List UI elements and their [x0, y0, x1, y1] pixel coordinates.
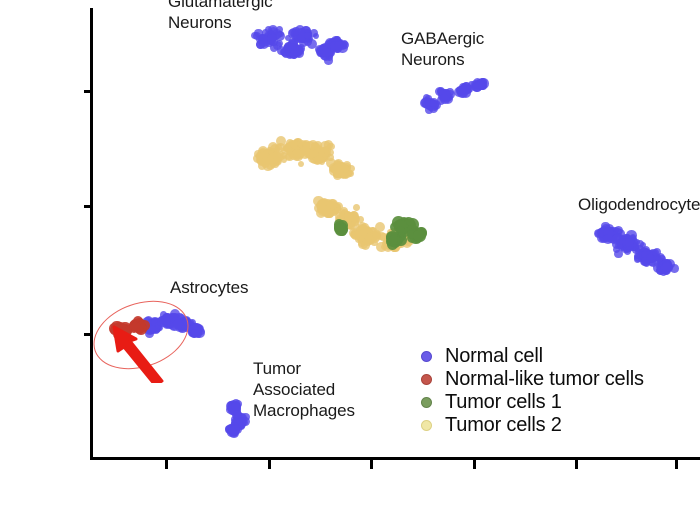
- scatter-point: [404, 226, 411, 233]
- scatter-point: [604, 233, 612, 241]
- scatter-point: [256, 152, 265, 161]
- scatter-point: [282, 50, 291, 59]
- scatter-point: [225, 425, 234, 434]
- scatter-point: [292, 48, 301, 57]
- scatter-point: [337, 165, 346, 174]
- scatter-point: [416, 227, 427, 238]
- scatter-point: [441, 91, 451, 101]
- scatter-point: [406, 235, 414, 243]
- scatter-point: [296, 32, 306, 42]
- scatter-point: [457, 88, 467, 98]
- scatter-point: [298, 140, 307, 149]
- scatter-point: [644, 254, 653, 263]
- scatter-point: [232, 425, 242, 435]
- legend-item-label: Normal-like tumor cells: [445, 368, 644, 391]
- scatter-point: [317, 199, 327, 209]
- scatter-point: [285, 46, 291, 52]
- scatter-point: [335, 168, 343, 176]
- scatter-point: [318, 152, 325, 159]
- scatter-point: [233, 426, 240, 433]
- scatter-point: [652, 249, 660, 257]
- scatter-point: [270, 152, 278, 160]
- scatter-point: [301, 26, 311, 36]
- scatter-point: [348, 213, 357, 222]
- scatter-point: [320, 141, 330, 151]
- scatter-point: [362, 229, 368, 235]
- scatter-point: [385, 240, 395, 250]
- scatter-point: [325, 52, 332, 59]
- scatter-point: [241, 417, 250, 426]
- scatter-point: [459, 85, 465, 91]
- scatter-point: [313, 151, 320, 158]
- scatter-point: [382, 239, 391, 248]
- scatter-point: [336, 224, 343, 231]
- scatter-point: [342, 165, 348, 171]
- scatter-point: [405, 237, 411, 243]
- scatter-point: [227, 428, 235, 436]
- scatter-point: [323, 48, 330, 55]
- scatter-point: [293, 149, 300, 156]
- scatter-point: [331, 36, 340, 45]
- scatter-point: [337, 225, 345, 233]
- scatter-point: [368, 238, 374, 244]
- scatter-point: [440, 89, 447, 96]
- legend-item-normal-like-tumor-cells[interactable]: Normal-like tumor cells: [418, 368, 693, 391]
- scatter-point: [358, 222, 367, 231]
- x-axis-tick: [370, 460, 373, 469]
- scatter-point: [292, 152, 298, 158]
- scatter-point: [385, 232, 395, 242]
- scatter-point: [233, 410, 242, 419]
- scatter-point: [664, 264, 672, 272]
- scatter-point: [391, 239, 400, 248]
- scatter-point: [265, 153, 274, 162]
- y-axis-tick: [84, 205, 93, 208]
- scatter-point: [349, 211, 359, 221]
- scatter-point: [308, 153, 315, 160]
- scatter-point: [628, 235, 637, 244]
- scatter-point: [290, 46, 296, 52]
- scatter-point: [309, 149, 319, 159]
- scatter-point: [259, 39, 269, 49]
- scatter-point: [268, 150, 275, 157]
- scatter-point: [389, 239, 396, 246]
- scatter-point: [290, 43, 300, 53]
- scatter-point: [610, 233, 616, 239]
- scatter-point: [463, 86, 472, 95]
- scatter-point: [332, 42, 342, 52]
- scatter-point: [390, 234, 401, 245]
- scatter-point: [343, 173, 349, 179]
- scatter-point: [341, 214, 348, 221]
- scatter-point: [232, 410, 242, 420]
- scatter-point: [261, 159, 270, 168]
- scatter-point: [394, 220, 402, 228]
- scatter-point: [194, 328, 204, 338]
- scatter-point: [336, 165, 343, 172]
- scatter-point: [662, 262, 670, 270]
- scatter-point: [606, 227, 615, 236]
- scatter-point: [336, 214, 346, 224]
- scatter-point: [399, 220, 407, 228]
- scatter-point: [280, 48, 289, 57]
- x-axis-tick: [268, 460, 271, 469]
- scatter-point: [412, 227, 419, 234]
- scatter-point: [630, 242, 638, 250]
- scatter-point: [402, 238, 412, 248]
- scatter-point: [304, 34, 313, 43]
- scatter-point: [334, 202, 343, 211]
- scatter-point: [464, 86, 471, 93]
- scatter-point: [412, 228, 420, 236]
- scatter-point: [330, 45, 337, 52]
- scatter-point: [290, 145, 297, 152]
- scatter-point: [226, 401, 236, 411]
- scatter-point: [456, 86, 464, 94]
- scatter-point: [412, 230, 419, 237]
- scatter-point: [462, 82, 471, 91]
- scatter-point: [403, 233, 412, 242]
- scatter-point: [259, 37, 269, 47]
- scatter-point: [233, 414, 241, 422]
- scatter-point: [323, 50, 330, 57]
- scatter-point: [313, 196, 323, 206]
- scatter-point: [653, 262, 663, 272]
- scatter-point: [277, 46, 286, 55]
- scatter-point: [337, 171, 344, 178]
- scatter-point: [649, 256, 656, 263]
- scatter-point: [335, 168, 344, 177]
- scatter-point: [414, 230, 426, 242]
- scatter-point: [658, 258, 667, 267]
- scatter-point: [343, 165, 351, 173]
- scatter-point: [407, 234, 416, 243]
- scatter-point: [390, 242, 400, 252]
- scatter-point: [656, 263, 663, 270]
- scatter-point: [625, 243, 632, 250]
- scatter-point: [646, 253, 655, 262]
- scatter-point: [349, 228, 359, 238]
- scatter-point: [285, 35, 291, 41]
- scatter-point: [327, 199, 337, 209]
- scatter-point: [291, 150, 298, 157]
- scatter-point: [461, 86, 467, 92]
- scatter-point: [347, 213, 356, 222]
- scatter-point: [389, 239, 397, 247]
- scatter-point: [301, 142, 310, 151]
- scatter-point: [642, 256, 650, 264]
- scatter-point: [191, 329, 199, 337]
- scatter-point: [385, 241, 392, 248]
- scatter-point: [354, 230, 362, 238]
- scatter-point: [660, 268, 666, 274]
- scatter-point: [614, 226, 623, 235]
- scatter-point: [389, 237, 397, 245]
- scatter-point: [608, 231, 618, 241]
- scatter-point: [665, 264, 673, 272]
- legend-item-normal-cell[interactable]: Normal cell: [418, 345, 693, 368]
- scatter-point: [301, 26, 311, 36]
- scatter-point: [264, 154, 271, 161]
- scatter-point: [383, 242, 393, 252]
- scatter-point: [289, 28, 298, 37]
- scatter-point: [330, 38, 338, 46]
- scatter-point: [336, 222, 344, 230]
- scatter-point: [191, 328, 199, 336]
- scatter-point: [268, 151, 276, 159]
- scatter-point: [259, 37, 266, 44]
- scatter-point: [290, 145, 298, 153]
- scatter-point: [272, 29, 282, 39]
- scatter-point: [296, 147, 305, 156]
- scatter-point: [267, 36, 276, 45]
- scatter-point: [369, 227, 378, 236]
- scatter-point: [425, 102, 434, 111]
- scatter-point: [422, 99, 432, 109]
- scatter-point: [620, 242, 630, 252]
- scatter-point: [319, 202, 326, 209]
- scatter-point: [410, 232, 418, 240]
- scatter-point: [476, 82, 485, 91]
- scatter-point: [291, 148, 301, 158]
- scatter-point: [336, 165, 345, 174]
- scatter-point: [338, 41, 347, 50]
- scatter-point: [410, 232, 416, 238]
- scatter-point: [604, 232, 611, 239]
- scatter-point: [621, 235, 631, 245]
- scatter-point: [408, 230, 417, 239]
- scatter-point: [325, 206, 335, 216]
- scatter-point: [235, 420, 242, 427]
- scatter-point: [657, 265, 666, 274]
- scatter-point: [352, 219, 359, 226]
- scatter-point: [309, 147, 318, 156]
- scatter-point: [320, 202, 326, 208]
- scatter-point: [334, 40, 344, 50]
- scatter-point: [314, 141, 323, 150]
- scatter-point: [397, 232, 406, 241]
- scatter-point: [408, 229, 415, 236]
- scatter-point: [267, 38, 274, 45]
- scatter-point: [661, 259, 671, 269]
- scatter-point: [632, 246, 640, 254]
- scatter-point: [335, 163, 343, 171]
- scatter-point: [314, 150, 320, 156]
- scatter-point: [642, 252, 650, 260]
- scatter-point: [328, 205, 337, 214]
- scatter-point: [355, 231, 362, 238]
- scatter-point: [339, 214, 346, 221]
- scatter-point: [445, 93, 453, 101]
- scatter-point: [346, 223, 353, 230]
- scatter-point: [326, 47, 332, 53]
- scatter-point: [323, 199, 332, 208]
- scatter-point: [290, 46, 298, 54]
- scatter-point: [652, 253, 660, 261]
- scatter-point: [392, 216, 405, 229]
- scatter-point: [408, 233, 416, 241]
- scatter-point: [290, 147, 300, 157]
- scatter-point: [605, 227, 614, 236]
- legend-item-tumor-cells-1[interactable]: Tumor cells 1: [418, 391, 693, 414]
- scatter-point: [334, 164, 343, 173]
- scatter-point: [307, 39, 317, 49]
- scatter-point: [304, 32, 311, 39]
- scatter-point: [400, 217, 408, 225]
- scatter-point: [291, 46, 298, 53]
- scatter-point: [340, 215, 350, 225]
- scatter-point: [657, 263, 666, 272]
- scatter-point: [269, 34, 276, 41]
- scatter-point: [267, 149, 276, 158]
- scatter-point: [322, 146, 330, 154]
- scatter-point: [304, 151, 311, 158]
- scatter-point: [409, 229, 415, 235]
- scatter-point: [640, 257, 650, 267]
- scatter-point: [658, 263, 667, 272]
- scatter-point: [296, 34, 304, 42]
- scatter-point: [345, 217, 353, 225]
- scatter-point: [658, 263, 667, 272]
- scatter-point: [389, 241, 397, 249]
- scatter-point: [366, 227, 373, 234]
- scatter-point: [640, 253, 650, 263]
- scatter-point: [319, 48, 326, 55]
- scatter-point: [333, 169, 342, 178]
- scatter-point: [275, 152, 283, 160]
- scatter-point: [660, 260, 670, 270]
- scatter-point: [647, 254, 655, 262]
- scatter-point: [390, 234, 397, 241]
- scatter-point: [664, 260, 672, 268]
- legend-item-tumor-cells-2[interactable]: Tumor cells 2: [418, 414, 693, 437]
- scatter-point: [314, 157, 321, 164]
- scatter-point: [337, 169, 344, 176]
- scatter-point: [232, 403, 238, 409]
- scatter-point: [340, 165, 349, 174]
- scatter-point: [237, 418, 245, 426]
- scatter-point: [236, 413, 246, 423]
- scatter-point: [626, 245, 632, 251]
- scatter-point: [375, 222, 385, 232]
- scatter-point: [392, 232, 400, 240]
- scatter-point: [628, 237, 638, 247]
- scatter-point: [289, 151, 298, 160]
- scatter-point: [459, 88, 469, 98]
- scatter-point: [461, 84, 468, 91]
- scatter-point: [658, 261, 665, 268]
- scatter-point: [392, 239, 402, 249]
- scatter-point: [662, 259, 671, 268]
- scatter-point: [461, 83, 467, 89]
- scatter-point: [316, 202, 322, 208]
- scatter-point: [292, 27, 300, 35]
- scatter-point: [660, 264, 668, 272]
- scatter-point: [627, 243, 634, 250]
- scatter-point: [300, 30, 306, 36]
- scatter-point: [264, 156, 271, 163]
- scatter-point: [228, 407, 237, 416]
- scatter-point: [612, 234, 622, 244]
- scatter-point: [344, 212, 353, 221]
- scatter-point: [342, 214, 352, 224]
- scatter-point: [192, 327, 198, 333]
- scatter-point: [268, 155, 274, 161]
- scatter-point: [442, 90, 450, 98]
- scatter-point: [276, 143, 285, 152]
- scatter-point: [345, 214, 353, 222]
- scatter-point: [650, 253, 658, 261]
- scatter-point: [338, 163, 346, 171]
- scatter-point: [619, 238, 626, 245]
- scatter-point: [281, 147, 288, 154]
- scatter-point: [359, 237, 365, 243]
- scatter-point: [327, 201, 334, 208]
- scatter-point: [390, 241, 400, 251]
- cluster-label-gabaergic-neurons: GABAergic Neurons: [401, 28, 484, 70]
- scatter-point: [364, 229, 372, 237]
- scatter-point: [454, 87, 464, 97]
- scatter-point: [328, 199, 338, 209]
- scatter-point: [411, 232, 417, 238]
- scatter-point: [303, 30, 311, 38]
- scatter-point: [401, 228, 409, 236]
- scatter-point: [232, 408, 240, 416]
- scatter-point: [290, 140, 298, 148]
- scatter-point: [643, 253, 651, 261]
- scatter-point: [661, 261, 669, 269]
- scatter-point: [644, 252, 654, 262]
- cluster-label-tumor-associated-macrophages: Tumor Associated Macrophages: [253, 358, 355, 421]
- scatter-point: [445, 90, 454, 99]
- scatter-point: [292, 49, 298, 55]
- scatter-point: [230, 422, 238, 430]
- scatter-point: [272, 151, 281, 160]
- scatter-point: [284, 42, 293, 51]
- scatter-point: [266, 151, 273, 158]
- scatter-point: [231, 404, 239, 412]
- scatter-point: [405, 235, 413, 243]
- scatter-point: [663, 264, 669, 270]
- scatter-point: [357, 235, 366, 244]
- scatter-point: [614, 228, 622, 236]
- scatter-point: [264, 155, 271, 162]
- scatter-point: [226, 424, 236, 434]
- scatter-point: [267, 33, 277, 43]
- scatter-point: [229, 428, 236, 435]
- circle-marker-icon: [421, 397, 432, 408]
- scatter-point: [225, 425, 233, 433]
- scatter-point: [638, 248, 648, 258]
- scatter-point: [335, 169, 341, 175]
- scatter-point: [264, 33, 271, 40]
- scatter-point: [301, 141, 310, 150]
- scatter-point: [287, 142, 295, 150]
- scatter-point: [228, 426, 238, 436]
- scatter-point: [342, 221, 348, 227]
- scatter-point: [355, 231, 365, 241]
- scatter-point: [337, 225, 348, 236]
- scatter-point: [361, 234, 369, 242]
- scatter-point: [623, 234, 631, 242]
- scatter-point: [388, 236, 397, 245]
- scatter-point: [395, 234, 404, 243]
- scatter-point: [298, 34, 305, 41]
- scatter-point: [191, 325, 201, 335]
- scatter-point: [442, 94, 448, 100]
- scatter-point: [330, 41, 340, 51]
- scatter-point: [656, 266, 665, 275]
